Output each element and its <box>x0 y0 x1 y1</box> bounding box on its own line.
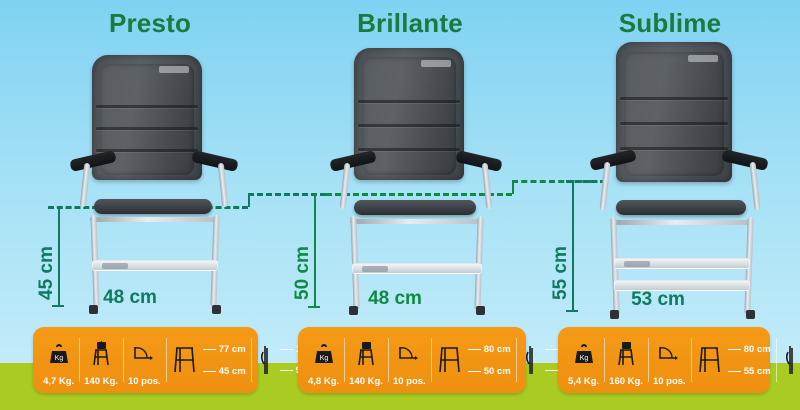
chair-with-load-icon <box>89 331 113 376</box>
chair-side-profile-icon <box>171 345 199 375</box>
spec-weight: Kg 4,8 Kg. <box>303 331 344 389</box>
product-title-presto: Presto <box>40 8 260 39</box>
seat-rail <box>350 219 482 224</box>
width-label-presto: 48 cm <box>75 287 185 309</box>
product-title-brillante: Brillante <box>300 8 520 39</box>
spec-positions: 10 pos. <box>648 331 691 389</box>
backrest-seam <box>358 148 460 151</box>
folding-back-icon <box>131 331 157 376</box>
spec-positions-value: 10 pos. <box>653 376 686 389</box>
chair-brillante <box>322 48 512 308</box>
cross-bar <box>352 263 482 274</box>
spec-panel-sublime: Kg 5,4 Kg. 160 Kg. 10 pos. 80 cm <box>558 327 770 393</box>
backrest-seam <box>620 122 728 125</box>
seat-height-label-sublime: 55 cm <box>550 246 572 300</box>
spec-panel-brillante: Kg 4,8 Kg. 140 Kg. 10 pos. 80 cm <box>298 327 526 393</box>
weight-block-kg-icon: Kg <box>48 331 70 376</box>
seat-rail <box>90 217 218 222</box>
cross-bar-upper <box>614 258 750 269</box>
seat-cushion <box>616 200 746 215</box>
spec-positions-value: 10 pos. <box>128 376 161 389</box>
spec-weight-value: 5,4 Kg. <box>568 376 599 389</box>
backrest-seam <box>620 97 728 100</box>
spec-max-load-value: 160 Kg. <box>609 376 643 389</box>
spec-seat-height-value: 50 cm <box>484 366 511 377</box>
foot-left <box>610 310 619 319</box>
seat-cushion <box>354 200 476 215</box>
spec-back-height-value: 77 cm <box>219 344 246 355</box>
seat-height-label-presto: 45 cm <box>36 246 58 300</box>
spec-weight-value: 4,8 Kg. <box>308 376 339 389</box>
folded-chair-profile-icon <box>256 344 276 376</box>
spec-folded: 115 cm 9,5 cm <box>776 331 800 389</box>
infographic-canvas: Presto Brillante Sublime 45 cm 48 cm <box>0 0 800 410</box>
spec-back-height-value: 80 cm <box>484 344 511 355</box>
height-tick-bottom-presto <box>52 305 64 307</box>
spec-weight: Kg 4,7 Kg. <box>38 331 79 389</box>
connector-riser-2 <box>512 180 514 194</box>
spec-back-height: 80 cm <box>728 344 771 355</box>
backrest-seam <box>358 124 460 127</box>
backrest-seam <box>620 147 728 150</box>
folding-back-icon <box>656 331 682 376</box>
brand-logo-icon <box>688 55 718 62</box>
spec-max-load: 160 Kg. <box>604 331 648 389</box>
width-label-sublime: 53 cm <box>600 289 716 311</box>
chair-with-load-icon <box>354 331 378 376</box>
chair-side-profile-icon <box>696 345 724 375</box>
height-tick-bottom-sublime <box>566 310 578 312</box>
height-tick-bottom-brillante <box>308 306 320 308</box>
foot-right <box>476 306 485 315</box>
brand-logo-icon <box>159 66 189 73</box>
weight-block-kg-icon: Kg <box>573 331 595 376</box>
spec-weight: Kg 5,4 Kg. <box>563 331 604 389</box>
svg-text:Kg: Kg <box>319 355 328 362</box>
brand-logo-icon <box>421 60 451 67</box>
backrest-seam <box>358 100 460 103</box>
backrest-seam <box>96 127 198 130</box>
spec-seat-height: 55 cm <box>728 366 771 377</box>
folded-chair-profile-icon <box>781 344 800 376</box>
spec-positions: 10 pos. <box>388 331 431 389</box>
seat-rail <box>612 220 752 225</box>
product-title-sublime: Sublime <box>560 8 780 39</box>
frame-tube-left <box>600 162 611 210</box>
svg-text:Kg: Kg <box>54 355 63 362</box>
spec-max-load: 140 Kg. <box>344 331 388 389</box>
height-measure-line-presto <box>58 206 60 305</box>
spec-positions: 10 pos. <box>123 331 166 389</box>
chair-side-profile-icon <box>436 345 464 375</box>
chair-sublime <box>586 42 782 312</box>
seat-cushion <box>94 199 212 214</box>
width-label-brillante: 48 cm <box>340 288 450 310</box>
spec-seat-height-value: 55 cm <box>744 366 771 377</box>
chair-presto <box>60 55 250 305</box>
spec-back-height: 77 cm <box>203 344 246 355</box>
spec-seat-height-value: 45 cm <box>219 366 246 377</box>
foot-right <box>212 305 221 314</box>
svg-text:Kg: Kg <box>579 355 588 362</box>
spec-back-height: 80 cm <box>468 344 511 355</box>
seat-height-label-brillante: 50 cm <box>292 246 314 300</box>
spec-max-load-value: 140 Kg. <box>84 376 118 389</box>
spec-positions-value: 10 pos. <box>393 376 426 389</box>
spec-seat-height: 50 cm <box>468 366 511 377</box>
spec-weight-value: 4,7 Kg. <box>43 376 74 389</box>
folded-chair-profile-icon <box>521 344 541 376</box>
spec-back-height-value: 80 cm <box>744 344 771 355</box>
spec-max-load-value: 140 Kg. <box>349 376 383 389</box>
spec-heights: 80 cm 50 cm <box>431 331 516 389</box>
spec-panel-presto: Kg 4,7 Kg. 140 Kg. 10 pos. 77 cm <box>33 327 258 393</box>
cross-bar <box>92 260 218 271</box>
folding-back-icon <box>396 331 422 376</box>
spec-heights: 80 cm 55 cm <box>691 331 776 389</box>
weight-block-kg-icon: Kg <box>313 331 335 376</box>
foot-right <box>746 310 755 319</box>
spec-seat-height: 45 cm <box>203 366 246 377</box>
height-measure-line-sublime <box>572 180 574 310</box>
height-measure-line-brillante <box>314 193 316 306</box>
spec-max-load: 140 Kg. <box>79 331 123 389</box>
backrest-seam <box>96 105 198 108</box>
spec-heights: 77 cm 45 cm <box>166 331 251 389</box>
chair-with-load-icon <box>614 331 638 376</box>
